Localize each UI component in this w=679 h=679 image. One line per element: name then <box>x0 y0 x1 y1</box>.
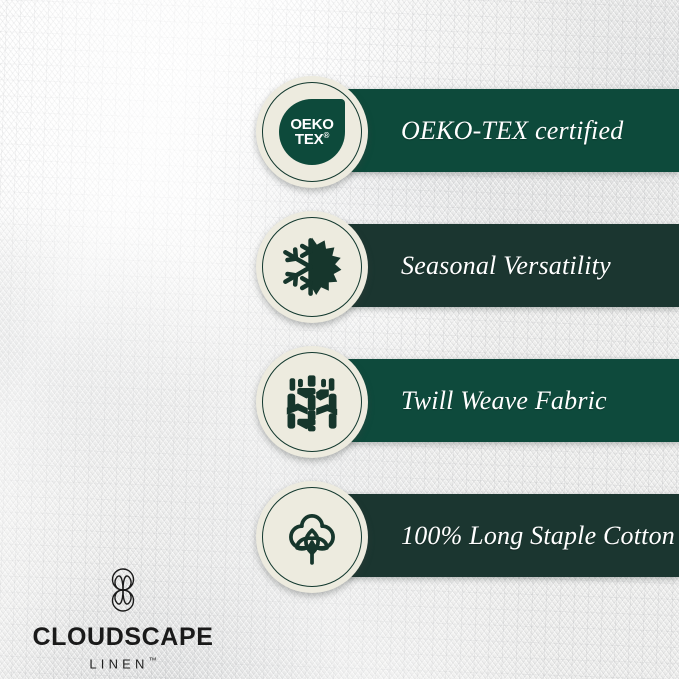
oeko-text-line1: OEKO <box>290 117 333 132</box>
feature-bar: 100% Long Staple Cotton <box>320 494 679 577</box>
feature-label: 100% Long Staple Cotton <box>401 521 675 551</box>
feature-row-twill-weave: Twill Weave Fabric <box>0 346 679 458</box>
feature-badge <box>256 211 368 323</box>
feature-label: OEKO-TEX certified <box>401 116 623 146</box>
feature-badge: OEKO TEX® <box>256 76 368 188</box>
feature-label: Twill Weave Fabric <box>401 386 607 416</box>
infinity-petal-logo-icon <box>103 565 143 615</box>
oeko-text-line2: TEX® <box>295 132 329 147</box>
feature-badge <box>256 481 368 593</box>
brand-subtitle: LINEN™ <box>18 657 228 670</box>
oeko-tex-logo-icon: OEKO TEX® <box>275 95 349 169</box>
twill-weave-icon <box>275 365 349 439</box>
feature-row-seasonal-versatility: Seasonal Versatility <box>0 211 679 323</box>
cotton-boll-icon <box>275 500 349 574</box>
registered-mark: ® <box>323 131 329 140</box>
brand-logo: CLOUDSCAPE LINEN™ <box>18 565 228 670</box>
brand-name: CLOUDSCAPE <box>18 625 228 650</box>
feature-bar: OEKO-TEX certified <box>320 89 679 172</box>
feature-row-oeko-tex: OEKO-TEX certified OEKO TEX® <box>0 76 679 188</box>
snowflake-sun-icon <box>275 230 349 304</box>
feature-label: Seasonal Versatility <box>401 251 611 281</box>
product-feature-infographic: OEKO-TEX certified OEKO TEX® Seasonal Ve… <box>0 0 679 679</box>
feature-badge <box>256 346 368 458</box>
feature-bar: Seasonal Versatility <box>320 224 679 307</box>
feature-bar: Twill Weave Fabric <box>320 359 679 442</box>
trademark-mark: ™ <box>149 656 157 665</box>
